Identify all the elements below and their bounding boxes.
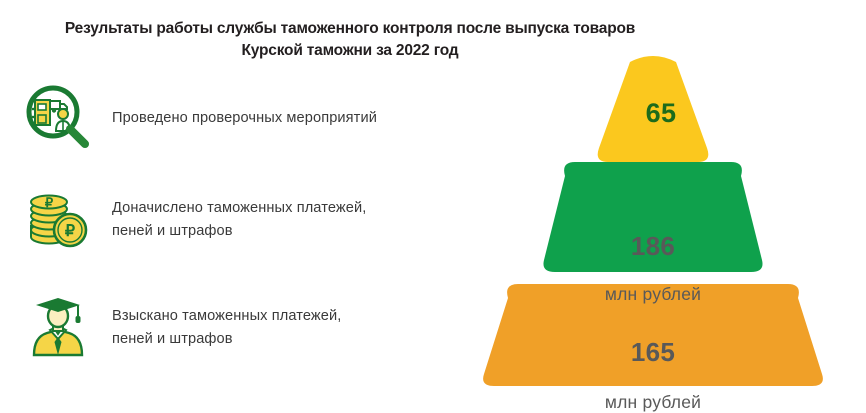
legend-item-label: Взыскано таможенных платежей, пеней и шт…: [112, 305, 341, 351]
svg-text:₽: ₽: [65, 223, 75, 240]
ruble-coins-icon: ₽ ₽: [22, 184, 94, 256]
legend-item-collected: Взыскано таможенных платежей, пеней и шт…: [22, 292, 452, 364]
infographic-canvas: Результаты работы службы таможенного кон…: [0, 0, 866, 411]
pyramid-svg: [440, 52, 866, 400]
legend-label-line-2: пеней и штрафов: [112, 328, 341, 351]
legend-label-line-2: пеней и штрафов: [112, 220, 366, 243]
pyramid-tier-bottom[interactable]: [483, 284, 823, 386]
legend-label-line-1: Доначислено таможенных платежей,: [112, 200, 366, 216]
pyramid-tier-middle[interactable]: [543, 162, 762, 272]
legend-label-line-1: Проведено проверочных мероприятий: [112, 110, 377, 126]
legend-label-line-1: Взыскано таможенных платежей,: [112, 308, 341, 324]
svg-text:₽: ₽: [45, 195, 54, 210]
magnifier-inspection-icon: [22, 82, 94, 154]
legend-item-label: Проведено проверочных мероприятий: [112, 107, 377, 130]
legend-item-assessed: ₽ ₽ Доначислено таможенных платежей, пен…: [22, 184, 452, 256]
legend-item-label: Доначислено таможенных платежей, пеней и…: [112, 197, 366, 243]
legend-item-inspections: Проведено проверочных мероприятий: [22, 82, 452, 154]
pyramid-tier-top[interactable]: [598, 56, 709, 162]
graduate-officer-icon: [22, 292, 94, 364]
title-line-1: Результаты работы службы таможенного кон…: [0, 18, 700, 40]
pyramid-chart: 65 186 млн рублей 165 млн рублей: [440, 52, 866, 400]
